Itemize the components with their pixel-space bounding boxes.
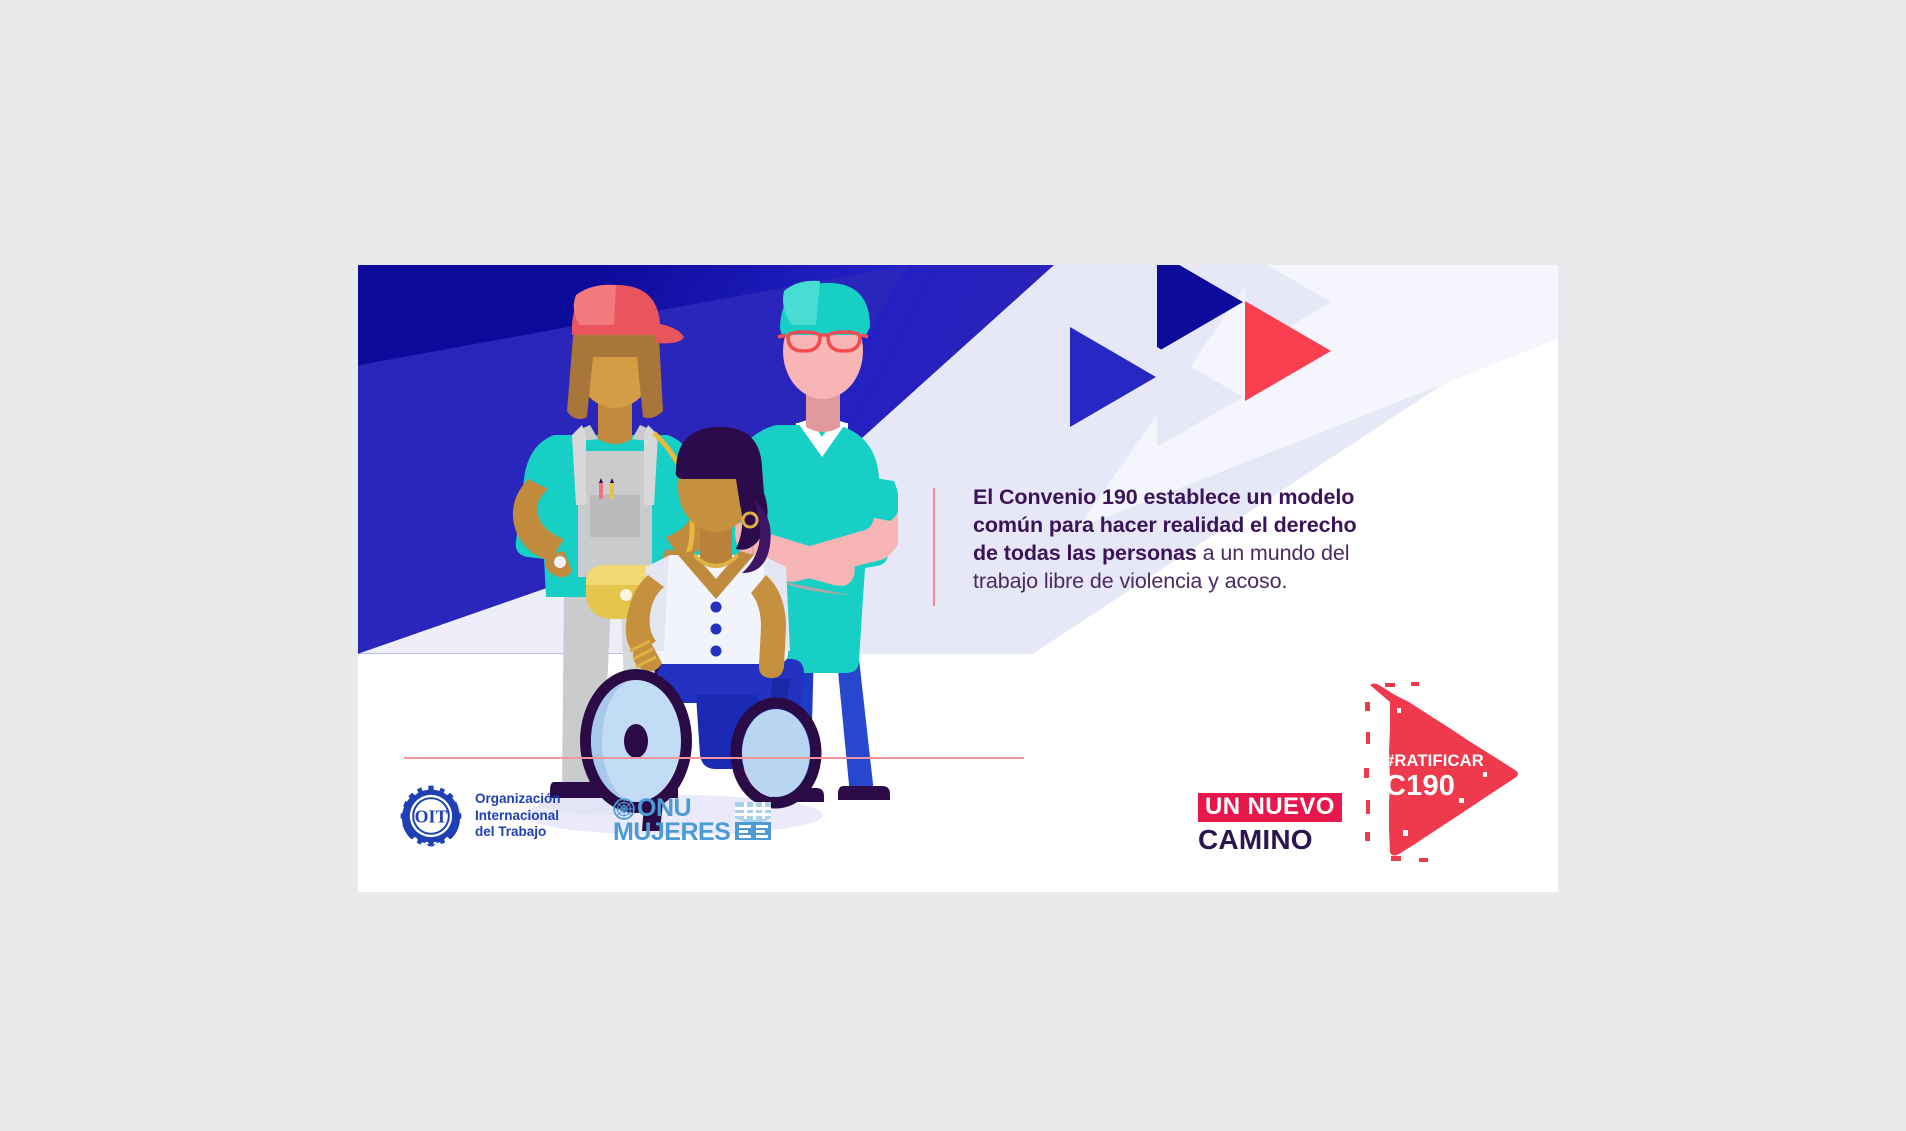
un-emblem-icon: [613, 798, 635, 820]
message-divider: [933, 488, 935, 606]
ratify-c190-badge[interactable]: #RATIFICAR C190: [1363, 680, 1538, 865]
un-women-mujeres-text: MUJERES: [613, 821, 730, 844]
ilo-emblem-icon: OIT: [398, 783, 464, 849]
banner-card: El Convenio 190 establece un modelo comú…: [358, 265, 1558, 892]
un-women-onu-text: ONU: [637, 797, 691, 820]
triangle-navy-icon: [1157, 265, 1243, 352]
un-women-grid-icon: [733, 800, 773, 842]
ilo-logo[interactable]: OIT Organización Internacional del Traba…: [398, 783, 561, 849]
tagline-bottom-text: CAMINO: [1198, 825, 1342, 855]
ilo-wordmark: Organización Internacional del Trabajo: [475, 791, 561, 842]
triangle-pale-lower-icon: [1157, 347, 1243, 447]
svg-text:OIT: OIT: [415, 807, 448, 827]
tagline-top-text: UN NUEVO: [1198, 793, 1342, 822]
message-block: El Convenio 190 establece un modelo comú…: [933, 483, 1363, 596]
footer-divider: [404, 757, 1024, 759]
convention-message: El Convenio 190 establece un modelo comú…: [933, 483, 1363, 596]
arrow-right-icon: [1363, 680, 1538, 865]
triangle-blue-icon: [1070, 327, 1156, 427]
decorative-triangle-cluster: [1058, 265, 1318, 445]
triangle-red-icon: [1245, 301, 1331, 401]
un-women-logo[interactable]: ONU MUJERES: [613, 797, 773, 844]
campaign-tagline: UN NUEVO CAMINO: [1198, 793, 1342, 855]
